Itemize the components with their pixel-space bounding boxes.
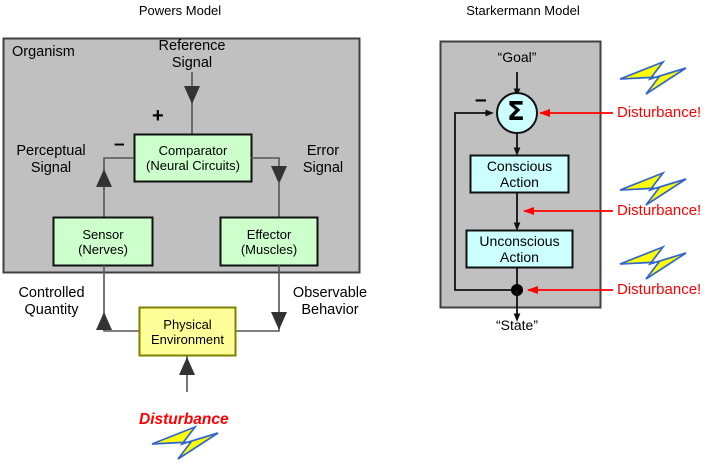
diagram-canvas: Powers Model Starkermann Model Organism … (0, 0, 720, 463)
physical-environment-box (140, 308, 236, 356)
error-signal-label: Error Signal (288, 143, 358, 177)
plus-sign-label: + (152, 105, 164, 128)
lightning-bolt-icon-3 (620, 247, 686, 279)
perceptual-signal-label: Perceptual Signal (5, 143, 97, 177)
disturbance-label-1: Disturbance! (617, 104, 701, 121)
effector-box (221, 218, 318, 266)
state-label: “State” (482, 317, 552, 334)
disturbance-label-powers: Disturbance (139, 411, 229, 429)
minus-sign-label-powers: – (114, 134, 125, 156)
conscious-action-box (471, 156, 569, 193)
summation-symbol: Σ (507, 99, 525, 125)
starkermann-model-title: Starkermann Model (443, 3, 603, 18)
goal-label: “Goal” (482, 49, 552, 66)
minus-sign-label-starkermann: – (475, 88, 487, 112)
controlled-quantity-wire (104, 265, 139, 331)
lightning-bolt-icon-2 (620, 173, 686, 205)
observable-behavior-wire (235, 265, 279, 331)
controlled-quantity-label: Controlled Quantity (4, 285, 99, 319)
reference-signal-label: Reference Signal (137, 38, 247, 72)
sensor-box (54, 218, 153, 266)
comparator-box (135, 135, 252, 182)
lightning-bolt-icon-1 (620, 62, 686, 94)
powers-model-title: Powers Model (120, 3, 240, 18)
disturbance-label-2: Disturbance! (617, 202, 701, 219)
observable-behavior-label: Observable Behavior (279, 285, 381, 319)
lightning-bolt-icon-left (152, 427, 218, 459)
disturbance-input-arrowhead (179, 357, 195, 375)
disturbance-label-3: Disturbance! (617, 281, 701, 298)
organism-label: Organism (12, 44, 75, 61)
unconscious-action-box (467, 231, 573, 268)
diagram-vector-layer (0, 0, 720, 463)
